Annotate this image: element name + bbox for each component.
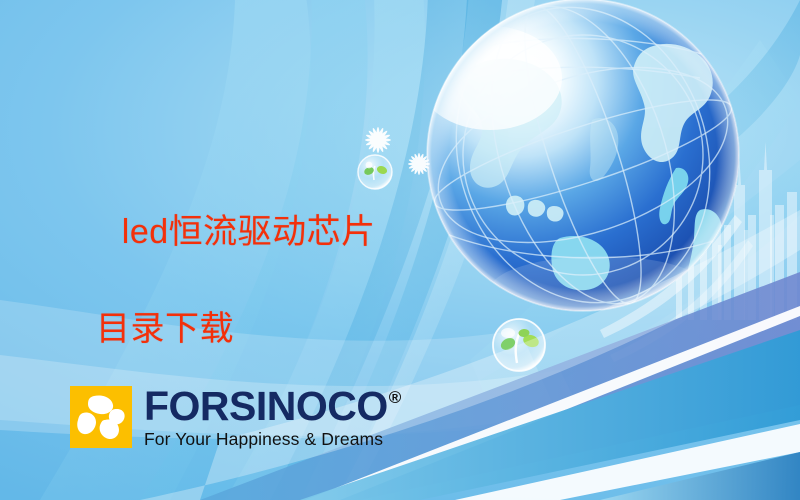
headline-line-1: led恒流驱动芯片 — [122, 213, 376, 251]
registered-trademark-icon: ® — [389, 389, 402, 406]
promo-banner: led恒流驱动芯片 目录下载 FORSINOCO ® For Your Happ… — [0, 0, 800, 500]
four-petal-flower-mark — [70, 386, 132, 448]
brand-name: FORSINOCO — [144, 386, 388, 427]
brand-tagline: For Your Happiness & Dreams — [144, 431, 401, 449]
flower-petals-icon — [70, 386, 132, 448]
logo-wordmark: FORSINOCO ® For Your Happiness & Dreams — [144, 386, 401, 449]
company-logo: FORSINOCO ® For Your Happiness & Dreams — [70, 386, 401, 449]
headline-line-2: 目录下载 — [82, 305, 376, 353]
